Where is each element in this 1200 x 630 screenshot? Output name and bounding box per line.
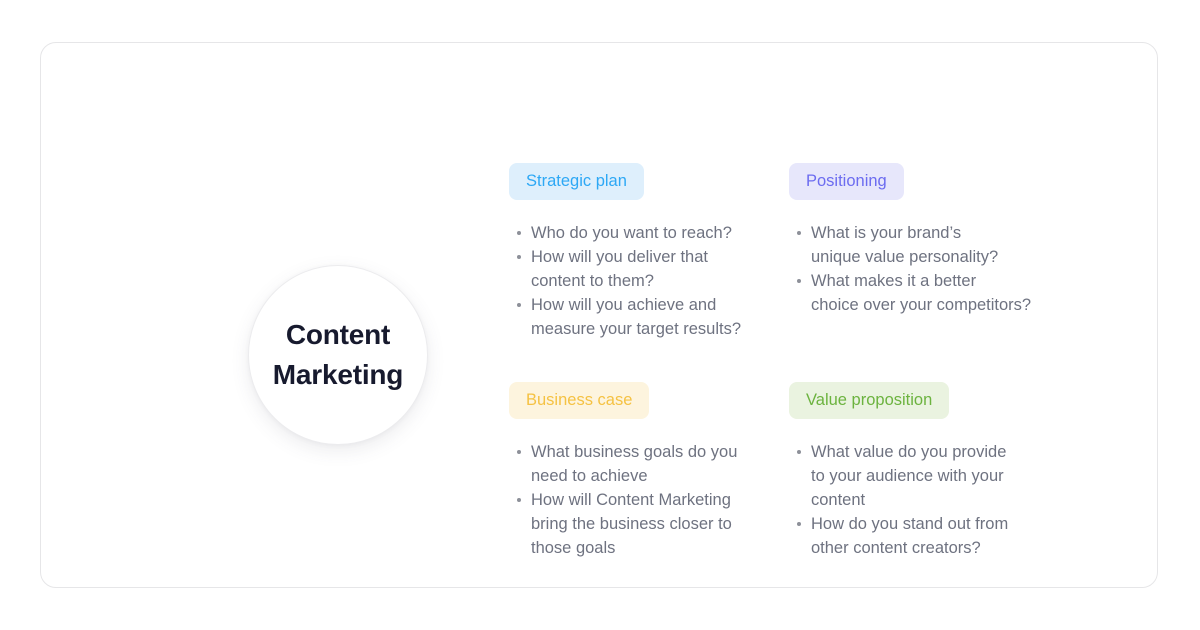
list-item: What makes it a better choice over your …	[789, 269, 1089, 317]
badge-value-proposition[interactable]: Value proposition	[789, 382, 949, 419]
points-list-business-case: What business goals do you need to achie…	[509, 440, 809, 560]
list-item: How will you deliver that content to the…	[509, 245, 809, 293]
list-item: How will Content Marketing bring the bus…	[509, 488, 809, 560]
diagram-card: Content Marketing Strategic plan Who do …	[40, 42, 1158, 588]
diagram-canvas: Content Marketing Strategic plan Who do …	[0, 0, 1200, 630]
list-item: How do you stand out from other content …	[789, 512, 1089, 560]
badge-business-case[interactable]: Business case	[509, 382, 649, 419]
list-item: What business goals do you need to achie…	[509, 440, 809, 488]
quadrant-business-case: Business case What business goals do you…	[509, 382, 809, 560]
quadrant-strategic-plan: Strategic plan Who do you want to reach?…	[509, 163, 809, 341]
list-item: How will you achieve and measure your ta…	[509, 293, 809, 341]
list-item: What value do you provide to your audien…	[789, 440, 1089, 512]
badge-positioning[interactable]: Positioning	[789, 163, 904, 200]
badge-strategic-plan[interactable]: Strategic plan	[509, 163, 644, 200]
points-list-value-proposition: What value do you provide to your audien…	[789, 440, 1089, 560]
center-circle-content-marketing: Content Marketing	[248, 265, 428, 445]
list-item: What is your brand’s unique value person…	[789, 221, 1089, 269]
quadrant-value-proposition: Value proposition What value do you prov…	[789, 382, 1089, 560]
center-circle-label: Content Marketing	[273, 315, 403, 395]
list-item: Who do you want to reach?	[509, 221, 809, 245]
points-list-strategic-plan: Who do you want to reach? How will you d…	[509, 221, 809, 341]
points-list-positioning: What is your brand’s unique value person…	[789, 221, 1089, 317]
quadrant-positioning: Positioning What is your brand’s unique …	[789, 163, 1089, 317]
